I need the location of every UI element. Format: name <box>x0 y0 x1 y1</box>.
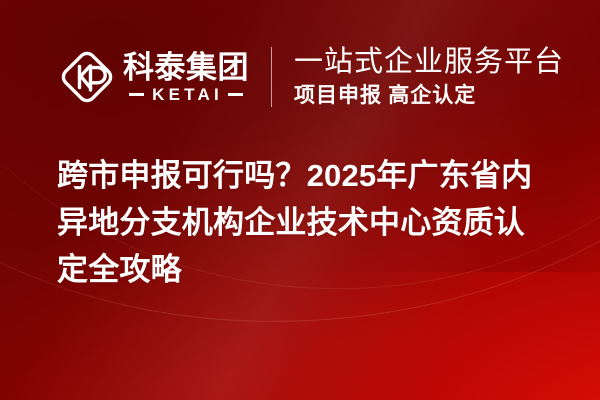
logo-name-en: KETAI <box>144 85 228 104</box>
logo-wordmark: 科泰集团 KETAI <box>123 51 249 104</box>
promo-banner: 科泰集团 KETAI 一站式企业服务平台 项目申报 高企认定 跨市申报可行吗？2… <box>0 0 600 400</box>
company-logo[interactable]: 科泰集团 KETAI <box>57 47 249 107</box>
brand-divider <box>271 47 272 107</box>
logo-name-en-row: KETAI <box>123 85 249 104</box>
logo-dash-right-icon <box>228 93 243 96</box>
brand-header: 科泰集团 KETAI 一站式企业服务平台 项目申报 高企认定 <box>0 34 600 120</box>
slogan-block: 一站式企业服务平台 项目申报 高企认定 <box>294 45 564 109</box>
ketai-diamond-kp-monogram-logo-icon <box>57 47 117 107</box>
logo-dash-left-icon <box>129 93 144 96</box>
headline-line: 定全攻略 <box>57 246 557 293</box>
logo-name-cn: 科泰集团 <box>123 51 249 84</box>
headline-line: 异地分支机构企业技术中心资质认 <box>57 199 557 246</box>
headline-line: 跨市申报可行吗？2025年广东省内 <box>57 152 557 199</box>
headline-title: 跨市申报可行吗？2025年广东省内 异地分支机构企业技术中心资质认 定全攻略 <box>57 152 557 293</box>
slogan-secondary: 项目申报 高企认定 <box>294 81 564 109</box>
slogan-primary: 一站式企业服务平台 <box>294 45 564 79</box>
